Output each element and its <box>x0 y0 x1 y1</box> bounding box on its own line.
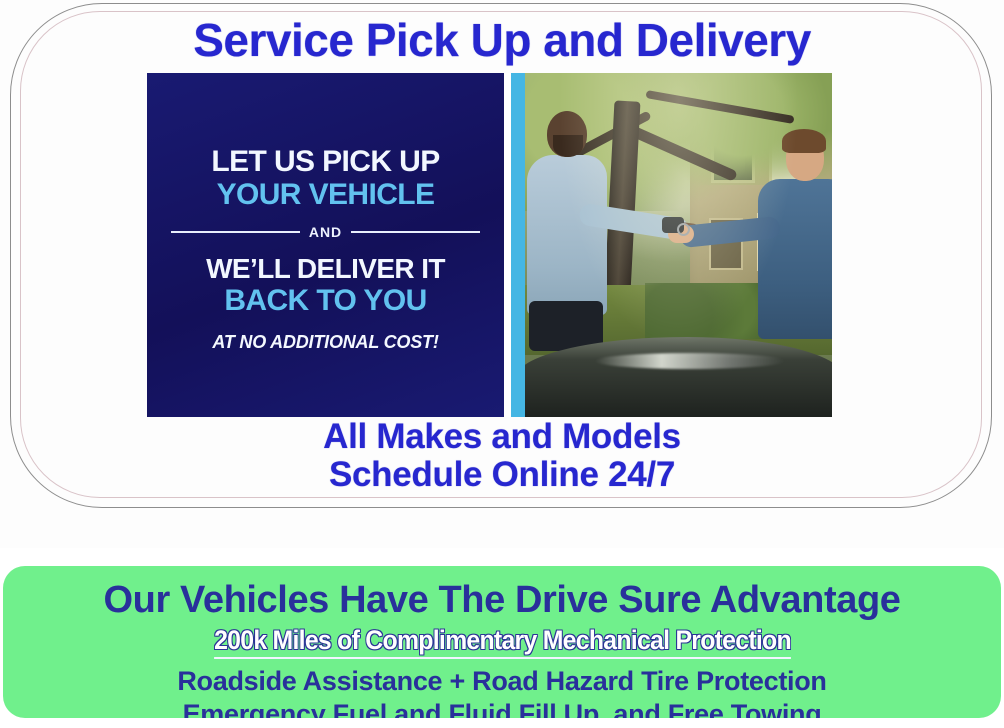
creative-connector-and: AND <box>309 224 342 240</box>
photo-car-hood <box>525 337 832 417</box>
creative-panel: LET US PICK UP YOUR VEHICLE AND WE’LL DE… <box>147 73 504 417</box>
key-ring-icon <box>677 223 690 236</box>
service-pickup-promo-card: Service Pick Up and Delivery LET US PICK… <box>0 0 1004 548</box>
creative-line-your-vehicle: YOUR VEHICLE <box>165 178 486 211</box>
advantage-title: Our Vehicles Have The Drive Sure Advanta… <box>3 578 1001 622</box>
key-handoff-photo <box>525 73 832 417</box>
photo-driver-body <box>758 179 832 339</box>
advantage-highlight-text: 200k Miles of Complimentary Mechanical P… <box>214 624 791 659</box>
advantage-bullet-fuel-towing: Emergency Fuel and Fluid Fill Up, and Fr… <box>3 698 1001 718</box>
cyan-accent-stripe <box>511 73 525 417</box>
subtext-schedule-online: Schedule Online 24/7 <box>0 456 1004 494</box>
photo-customer-body <box>527 155 607 315</box>
promo-subtext: All Makes and Models Schedule Online 24/… <box>0 418 1004 494</box>
creative-and-divider: AND <box>171 224 480 240</box>
creative-line-pickup: LET US PICK UP <box>165 145 486 178</box>
page-title: Service Pick Up and Delivery <box>0 14 1004 66</box>
photo-car-hood-reflection <box>595 353 785 369</box>
photo-driver-hair <box>782 129 826 153</box>
drive-sure-advantage-panel: Our Vehicles Have The Drive Sure Advanta… <box>3 566 1001 718</box>
photo-shrubs <box>645 283 775 339</box>
advantage-bullet-roadside: Roadside Assistance + Road Hazard Tire P… <box>3 665 1001 698</box>
creative-line-deliver: WE’LL DELIVER IT <box>165 253 486 284</box>
creative-line-no-cost: AT NO ADDITIONAL COST! <box>165 331 486 353</box>
advantage-bullet-list: Roadside Assistance + Road Hazard Tire P… <box>3 665 1001 718</box>
photo-customer-beard <box>553 135 583 157</box>
creative-gutter <box>504 73 511 417</box>
divider-rule-left <box>171 231 300 233</box>
creative-text-stack: LET US PICK UP YOUR VEHICLE AND WE’LL DE… <box>147 145 504 353</box>
subtext-all-makes-models: All Makes and Models <box>0 418 1004 456</box>
advantage-highlight-wrap: 200k Miles of Complimentary Mechanical P… <box>3 622 1001 659</box>
promo-artwork: LET US PICK UP YOUR VEHICLE AND WE’LL DE… <box>147 73 832 417</box>
divider-rule-right <box>351 231 480 233</box>
creative-line-back-to-you: BACK TO YOU <box>165 284 486 318</box>
